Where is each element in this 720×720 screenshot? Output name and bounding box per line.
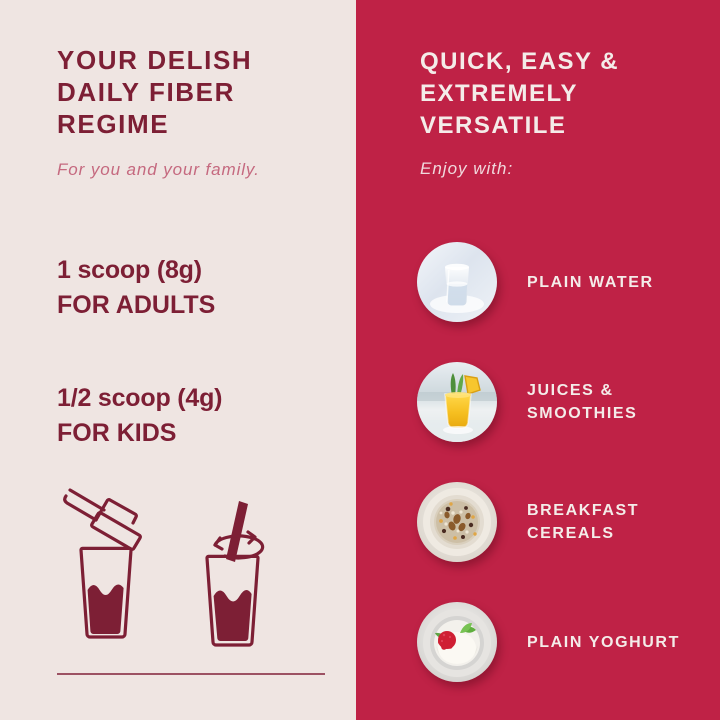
dose-adults: 1 scoop (8g) FOR ADULTS	[57, 255, 337, 320]
list-item-label: Juices & Smoothies	[527, 379, 720, 425]
right-subtitle: Enjoy with:	[420, 157, 670, 181]
list-item: Plain Water	[356, 222, 720, 342]
list-item: Juices & Smoothies	[356, 342, 720, 462]
bottom-divider-rule	[57, 673, 325, 675]
infographic-poster: Your Delish Daily Fiber Regime For you a…	[0, 0, 720, 720]
stir-glass-icon	[182, 483, 292, 653]
preparation-steps	[52, 483, 312, 643]
list-item-label: Plain Water	[527, 271, 654, 294]
right-heading: Quick, Easy & Extremely Versatile	[420, 46, 710, 142]
dose-adults-who: FOR ADULTS	[57, 290, 337, 320]
left-subtitle: For you and your family.	[57, 157, 272, 182]
list-item-label: Plain Yoghurt	[527, 631, 680, 654]
list-item-label: Breakfast Cereals	[527, 499, 720, 545]
right-panel: Quick, Easy & Extremely Versatile Enjoy …	[356, 0, 720, 720]
dose-adults-amount: 1 scoop (8g)	[57, 255, 337, 285]
dose-kids-amount: 1/2 scoop (4g)	[57, 383, 337, 413]
list-item: Plain Yoghurt	[356, 582, 720, 702]
left-panel: Your Delish Daily Fiber Regime For you a…	[0, 0, 356, 720]
juice-glass-photo	[417, 362, 497, 442]
left-heading: Your Delish Daily Fiber Regime	[57, 44, 317, 140]
yoghurt-bowl-photo	[417, 602, 497, 682]
glass-of-water-photo	[417, 242, 497, 322]
dose-kids-who: FOR KIDS	[57, 418, 337, 448]
cereal-bowl-photo	[417, 482, 497, 562]
scoop-into-glass-icon	[60, 483, 170, 648]
list-item: Breakfast Cereals	[356, 462, 720, 582]
dose-kids: 1/2 scoop (4g) FOR KIDS	[57, 383, 337, 448]
usage-list: Plain Water	[356, 222, 720, 702]
